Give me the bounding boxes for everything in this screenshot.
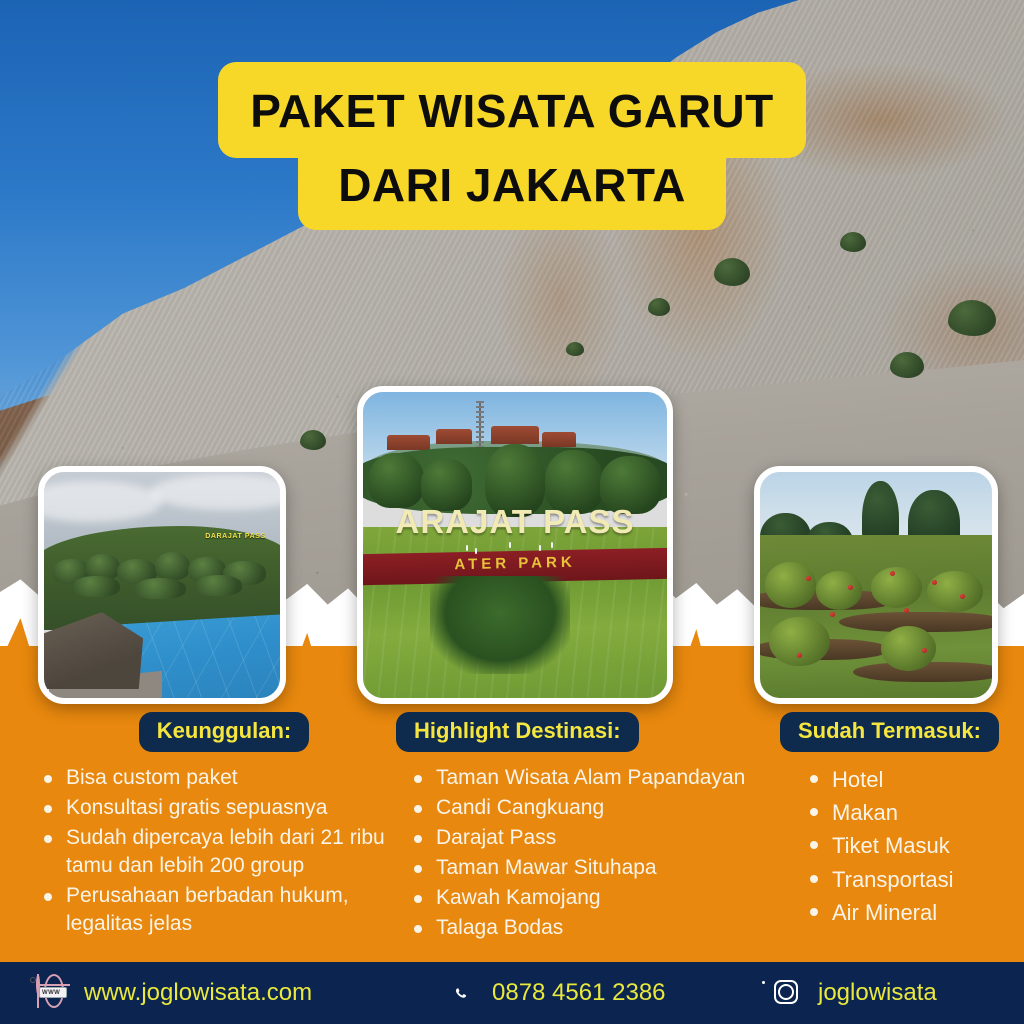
villa-roof <box>491 426 540 444</box>
title-line-2: DARI JAKARTA <box>298 148 726 230</box>
tree <box>369 453 424 508</box>
large-tree-shadow <box>430 576 570 674</box>
column-heading-sudah-termasuk: Sudah Termasuk: <box>780 712 999 752</box>
list-sudah-termasuk: Hotel Makan Tiket Masuk Transportasi Air… <box>780 764 1020 928</box>
photo-card-darajat-pass-pool[interactable]: DARAJAT PASS <box>38 466 286 704</box>
rose-bloom <box>830 612 835 617</box>
list-item: Transportasi <box>806 864 1020 895</box>
list-item: Sudah dipercaya lebih dari 21 ribu tamu … <box>40 824 394 880</box>
shrub-icon <box>840 232 866 252</box>
list-item: Candi Cangkuang <box>410 794 768 822</box>
shrub-icon <box>714 258 750 286</box>
instagram-icon <box>770 976 804 1010</box>
whatsapp-number: 0878 4561 2386 <box>492 979 666 1007</box>
tree <box>134 578 186 599</box>
shrub-icon <box>566 342 584 356</box>
list-item: Taman Mawar Situhapa <box>410 854 768 882</box>
shrub-icon <box>927 571 983 612</box>
shrub-icon <box>871 567 922 608</box>
shrub-icon <box>769 617 829 667</box>
list-item: Bisa custom paket <box>40 764 394 792</box>
contact-footer: WWW www.joglowisata.com 0878 4561 2386 <box>0 962 1024 1024</box>
shrub-icon <box>881 626 937 671</box>
column-highlight-destinasi: Highlight Destinasi: Taman Wisata Alam P… <box>396 712 768 944</box>
globe-www-label: WWW <box>39 987 67 998</box>
poster-title: PAKET WISATA GARUT DARI JAKARTA <box>0 62 1024 230</box>
photo-card-darajat-pass-water-park[interactable]: ARAJAT PASS ATER PARK <box>357 386 673 704</box>
column-keunggulan: Keunggulan: Bisa custom paket Konsultasi… <box>26 712 394 940</box>
list-item: Hotel <box>806 764 1020 795</box>
website-link[interactable]: WWW www.joglowisata.com <box>36 976 312 1010</box>
tree <box>72 576 119 597</box>
title-line-1: PAKET WISATA GARUT <box>218 62 805 158</box>
list-item: Taman Wisata Alam Papandayan <box>410 764 768 792</box>
list-item: Tiket Masuk <box>806 830 1020 861</box>
tree <box>195 575 242 596</box>
shrub-icon <box>300 430 326 450</box>
globe-icon: WWW <box>36 976 70 1010</box>
photo-card-taman-mawar-situhapa[interactable] <box>754 466 998 704</box>
list-item: Darajat Pass <box>410 824 768 852</box>
list-item: Makan <box>806 797 1020 828</box>
list-item: Air Mineral <box>806 897 1020 928</box>
rose-bloom <box>960 594 965 599</box>
website-text: www.joglowisata.com <box>84 979 312 1007</box>
photo-image: DARAJAT PASS <box>44 472 280 698</box>
visitor <box>509 542 511 548</box>
poster: PAKET WISATA GARUT DARI JAKARTA DAR <box>0 0 1024 1024</box>
tree <box>155 552 190 580</box>
shrub-icon <box>890 352 924 378</box>
hillside-letters-darajat-pass: ARAJAT PASS <box>363 505 667 538</box>
tree-cluster <box>44 531 280 626</box>
shrub-icon <box>816 571 862 609</box>
darajat-pass-sign: DARAJAT PASS <box>205 533 266 540</box>
list-item: Kawah Kamojang <box>410 884 768 912</box>
whatsapp-link[interactable]: 0878 4561 2386 <box>444 976 666 1010</box>
villa-roof <box>387 435 430 450</box>
villa-roof <box>542 432 575 447</box>
column-heading-highlight-destinasi: Highlight Destinasi: <box>396 712 639 752</box>
transmission-tower <box>479 401 481 450</box>
instagram-handle: joglowisata <box>818 979 937 1007</box>
photo-image <box>760 472 992 698</box>
list-item: Perusahaan berbadan hukum, legalitas jel… <box>40 882 394 938</box>
shrub-icon <box>948 300 996 336</box>
instagram-link[interactable]: joglowisata <box>770 976 937 1010</box>
list-item: Konsultasi gratis sepuasnya <box>40 794 394 822</box>
list-item: Talaga Bodas <box>410 914 768 942</box>
list-highlight-destinasi: Taman Wisata Alam Papandayan Candi Cangk… <box>396 764 768 942</box>
feature-columns: Keunggulan: Bisa custom paket Konsultasi… <box>0 712 1024 962</box>
rose-bloom <box>797 653 802 658</box>
list-keunggulan: Bisa custom paket Konsultasi gratis sepu… <box>26 764 394 938</box>
column-sudah-termasuk: Sudah Termasuk: Hotel Makan Tiket Masuk … <box>780 712 1020 930</box>
shrub-icon <box>648 298 670 316</box>
column-heading-keunggulan: Keunggulan: <box>139 712 309 752</box>
photo-image: ARAJAT PASS ATER PARK <box>363 392 667 698</box>
whatsapp-icon <box>444 976 478 1010</box>
rose-bloom <box>904 608 909 613</box>
villa-roof <box>436 429 472 444</box>
shrub-icon <box>765 562 816 607</box>
